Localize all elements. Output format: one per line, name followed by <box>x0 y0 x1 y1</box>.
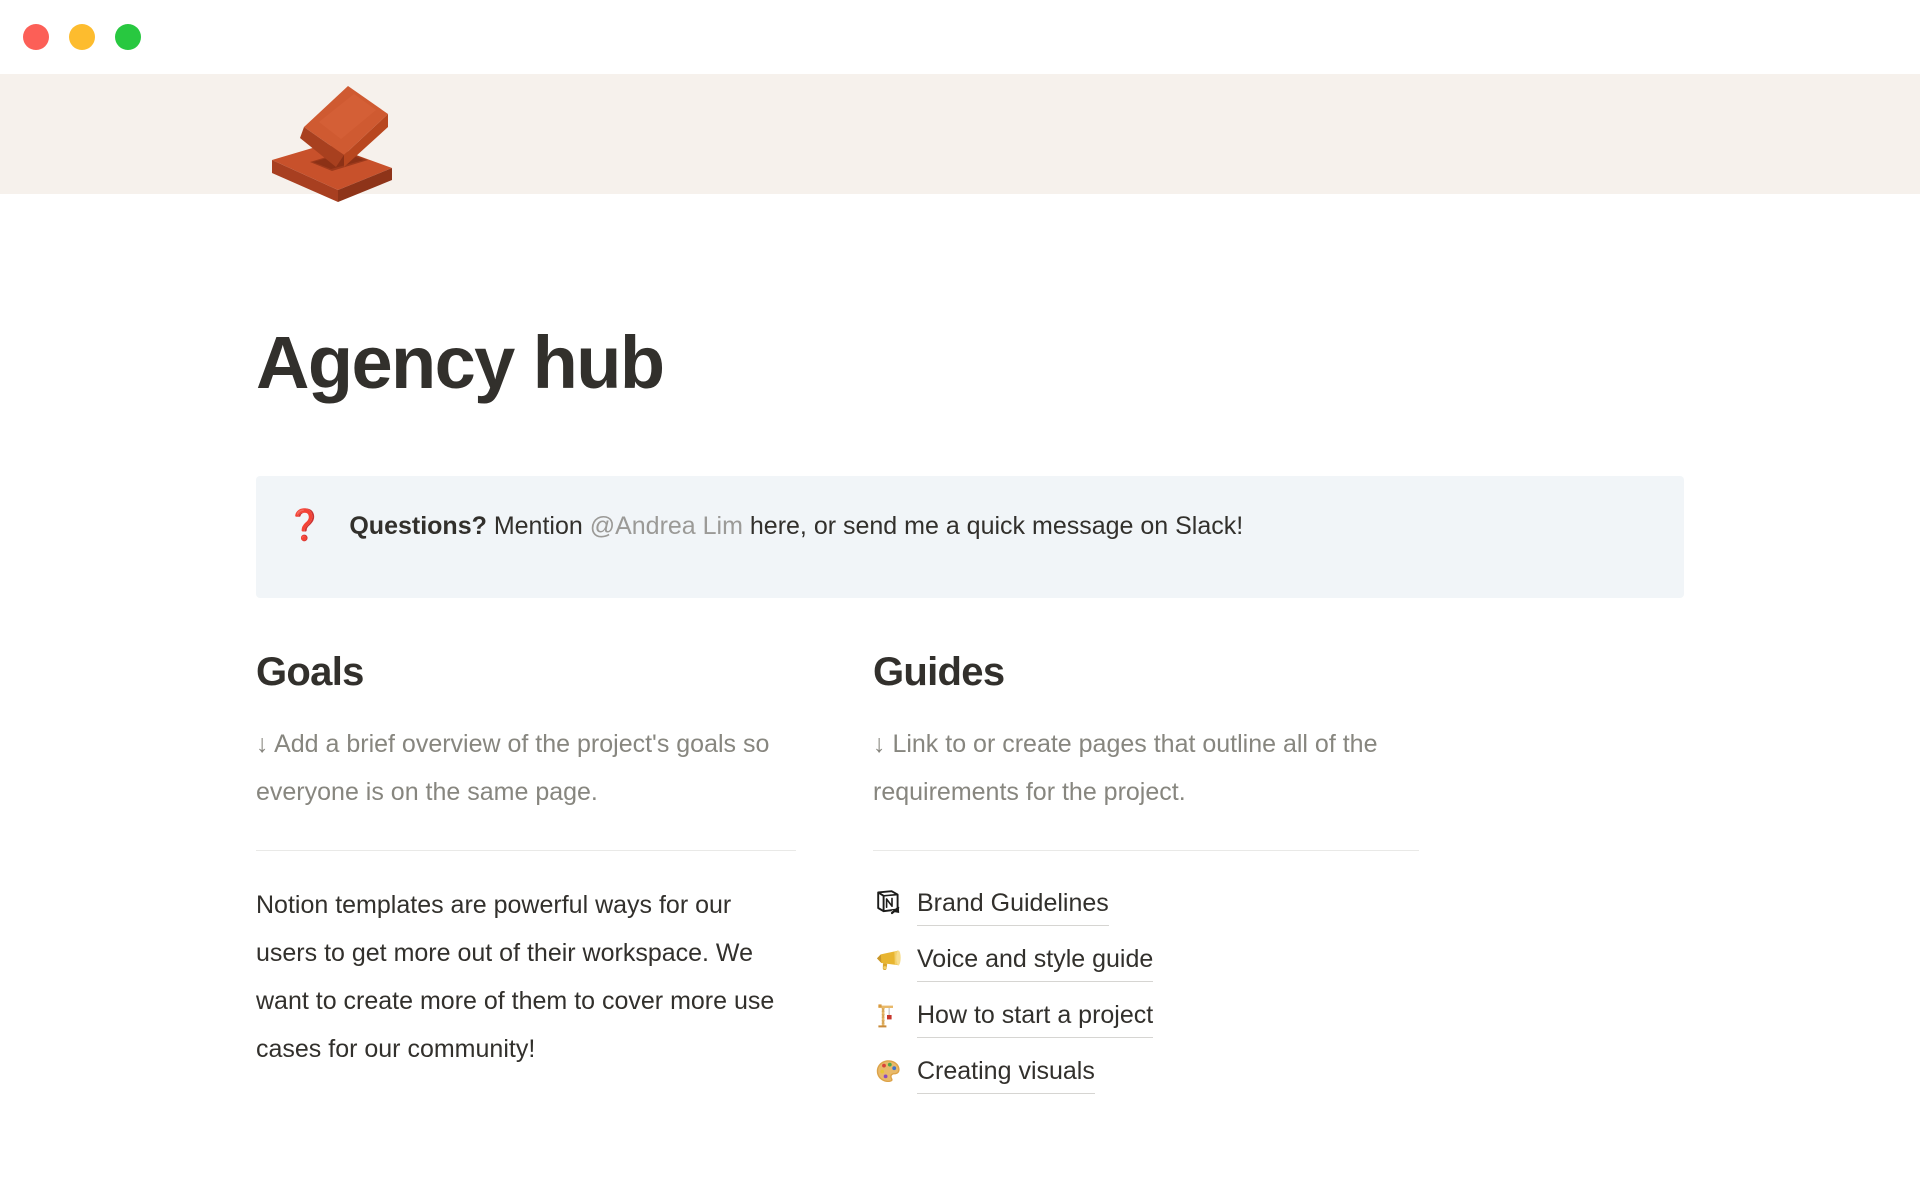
page-title[interactable]: Agency hub <box>256 324 1684 402</box>
red-question-mark-icon: ❓ <box>286 506 323 546</box>
two-column-section: Goals ↓ Add a brief overview of the proj… <box>256 648 1684 1094</box>
zoom-window-button[interactable] <box>115 24 141 50</box>
callout-text: Questions? Mention @Andrea Lim here, or … <box>349 506 1243 546</box>
notion-page-link-icon <box>873 888 903 918</box>
guide-link-brand-guidelines[interactable]: Brand Guidelines <box>873 881 1419 926</box>
guide-link-label[interactable]: Voice and style guide <box>917 937 1153 982</box>
callout-text-before-mention: Mention <box>487 512 590 540</box>
page-body: Agency hub ❓ Questions? Mention @Andrea … <box>0 194 1920 1200</box>
minimize-window-button[interactable] <box>69 24 95 50</box>
goals-body-text[interactable]: Notion templates are powerful ways for o… <box>256 881 796 1073</box>
window-titlebar <box>0 0 1920 74</box>
construction-crane-emoji-icon <box>873 1000 903 1030</box>
megaphone-emoji-icon <box>873 944 903 974</box>
guides-column: Guides ↓ Link to or create pages that ou… <box>873 648 1419 1094</box>
goals-column: Goals ↓ Add a brief overview of the proj… <box>256 648 796 1094</box>
guide-link-label[interactable]: Brand Guidelines <box>917 881 1109 926</box>
app-window: Agency hub ❓ Questions? Mention @Andrea … <box>0 0 1920 1200</box>
close-window-button[interactable] <box>23 24 49 50</box>
questions-callout[interactable]: ❓ Questions? Mention @Andrea Lim here, o… <box>256 476 1684 598</box>
callout-lead: Questions? <box>349 512 487 540</box>
goals-heading[interactable]: Goals <box>256 648 796 696</box>
traffic-lights <box>23 24 141 50</box>
guides-divider <box>873 850 1419 851</box>
goals-placeholder[interactable]: ↓ Add a brief overview of the project's … <box>256 720 796 816</box>
guide-link-creating-visuals[interactable]: Creating visuals <box>873 1049 1419 1094</box>
callout-text-after-mention: here, or send me a quick message on Slac… <box>743 512 1243 540</box>
artist-palette-emoji-icon <box>873 1056 903 1086</box>
page-content: Agency hub ❓ Questions? Mention @Andrea … <box>256 194 1684 1094</box>
guides-link-list: Brand Guidelines <box>873 881 1419 1094</box>
guides-placeholder[interactable]: ↓ Link to or create pages that outline a… <box>873 720 1419 816</box>
brick-emoji-icon[interactable] <box>256 64 402 210</box>
goals-divider <box>256 850 796 851</box>
user-mention[interactable]: @Andrea Lim <box>590 512 743 540</box>
guides-heading[interactable]: Guides <box>873 648 1419 696</box>
guide-link-voice-and-style-guide[interactable]: Voice and style guide <box>873 937 1419 982</box>
guide-link-label[interactable]: Creating visuals <box>917 1049 1095 1094</box>
guide-link-label[interactable]: How to start a project <box>917 993 1153 1038</box>
guide-link-how-to-start-a-project[interactable]: How to start a project <box>873 993 1419 1038</box>
